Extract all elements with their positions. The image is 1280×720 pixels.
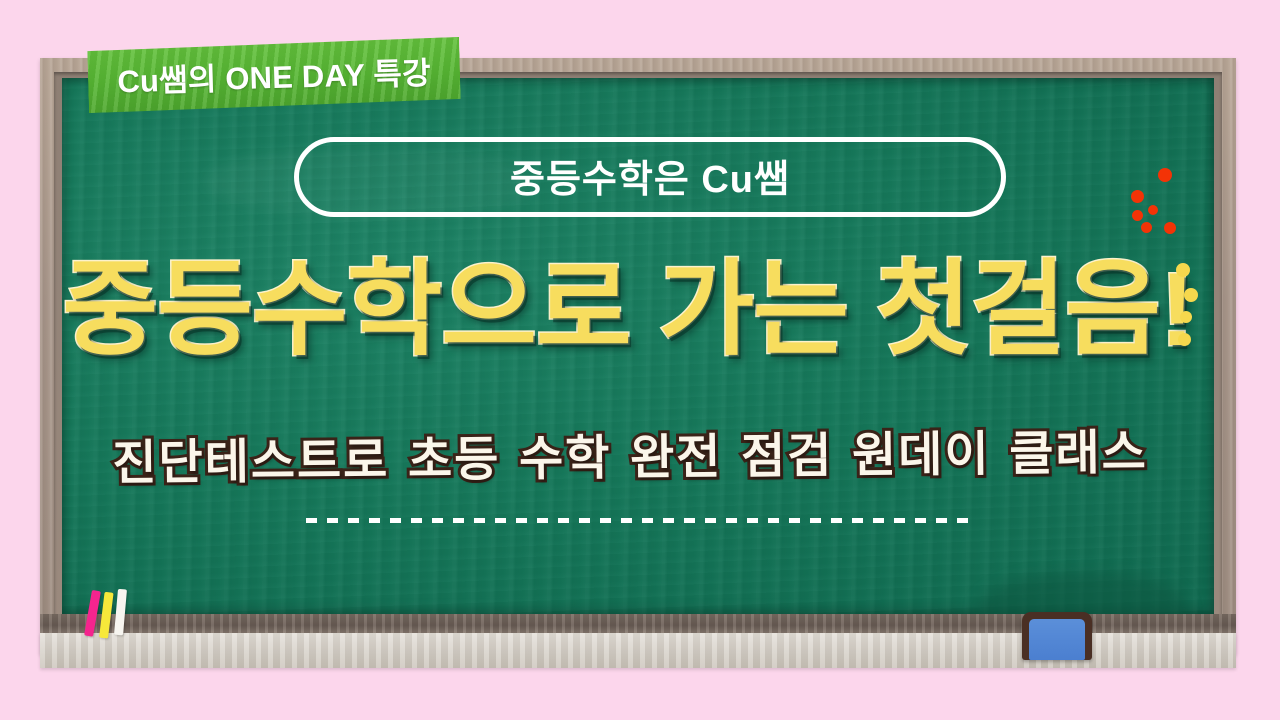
red-confetti-dots-2 — [1148, 205, 1158, 215]
yellow-accent-dots-0 — [1176, 263, 1190, 277]
tape-banner-label: Cu쌤의 ONE DAY 특강 — [117, 47, 432, 101]
pill-badge-label: 중등수학은 Cu쌤 — [510, 148, 790, 203]
chalk-smudge-bottom — [977, 573, 1187, 614]
yellow-accent-dots-3 — [1178, 333, 1191, 346]
yellow-accent-dots-1 — [1184, 288, 1198, 302]
subtitle-text: 진단테스트로 초등 수학 완전 점검 원데이 클래스 — [0, 411, 1270, 494]
red-confetti-dots-1 — [1131, 190, 1144, 203]
red-confetti-dots-3 — [1132, 210, 1143, 221]
dashed-divider — [306, 518, 970, 523]
red-confetti-dots-5 — [1164, 222, 1176, 234]
poster-canvas: Cu쌤의 ONE DAY 특강 중등수학은 Cu쌤 중등수학으로 가는 첫걸음!… — [0, 0, 1280, 720]
pill-badge: 중등수학은 Cu쌤 — [294, 137, 1006, 217]
red-confetti-dots-0 — [1158, 168, 1172, 182]
red-confetti-dots-4 — [1141, 222, 1152, 233]
board-eraser — [1022, 612, 1092, 660]
main-headline: 중등수학으로 가는 첫걸음! — [0, 252, 1268, 368]
yellow-accent-dots-2 — [1180, 311, 1192, 323]
